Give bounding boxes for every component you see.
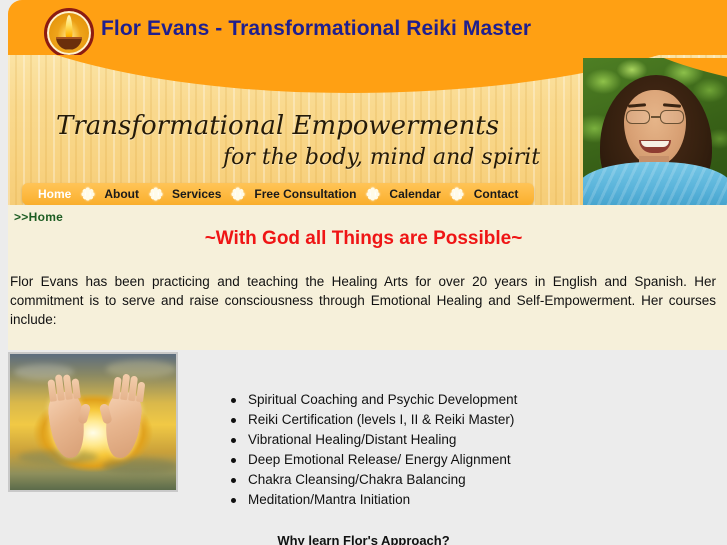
eyeglasses [625,110,685,125]
list-item: Spiritual Coaching and Psychic Developme… [228,390,517,410]
page-root: Flor Evans - Transformational Reiki Mast… [0,0,727,545]
breadcrumb[interactable]: >>Home [14,210,63,224]
list-item: Reiki Certification (levels I, II & Reik… [228,410,517,430]
nav-item-contact[interactable]: Contact [470,187,523,201]
cloud [102,458,178,474]
sun-starburst-icon [230,187,245,202]
lens-right [660,110,684,124]
lens-left [626,110,650,124]
footer-note: Why learn Flor's Approach? [0,533,727,545]
nav-item-home[interactable]: Home [34,187,75,201]
healing-hands-image [8,352,178,492]
list-item: Vibrational Healing/Distant Healing [228,430,517,450]
cloud [18,450,98,464]
site-title: Flor Evans - Transformational Reiki Mast… [101,17,531,41]
glasses-bridge [651,116,660,118]
nav-item-free-consultation[interactable]: Free Consultation [250,187,360,201]
course-list: Spiritual Coaching and Psychic Developme… [228,390,517,510]
page-headline: ~With God all Things are Possible~ [0,228,727,250]
teeth [641,141,669,147]
sun-starburst-icon [450,187,465,202]
nav-item-calendar[interactable]: Calendar [385,187,444,201]
portrait-photo [583,58,727,205]
sun-starburst-icon [80,187,95,202]
sun-starburst-icon [148,187,163,202]
nav-item-services[interactable]: Services [168,187,225,201]
tagline-line-2: for the body, mind and spirit [223,145,540,170]
candle-lamp-emblem-icon [44,8,94,58]
nav-item-about[interactable]: About [100,187,143,201]
sun-starburst-icon [365,187,380,202]
list-item: Meditation/Mantra Initiation [228,490,517,510]
cloud [106,360,176,378]
tagline-line-1: Transformational Empowerments [56,111,499,141]
list-item: Chakra Cleansing/Chakra Balancing [228,470,517,490]
intro-paragraph: Flor Evans has been practicing and teach… [10,272,716,329]
main-navigation[interactable]: Home About Services Free Consultation Ca… [22,183,534,205]
list-item: Deep Emotional Release/ Energy Alignment [228,450,517,470]
lamp-bowl [56,37,82,50]
blue-blouse [583,162,727,205]
